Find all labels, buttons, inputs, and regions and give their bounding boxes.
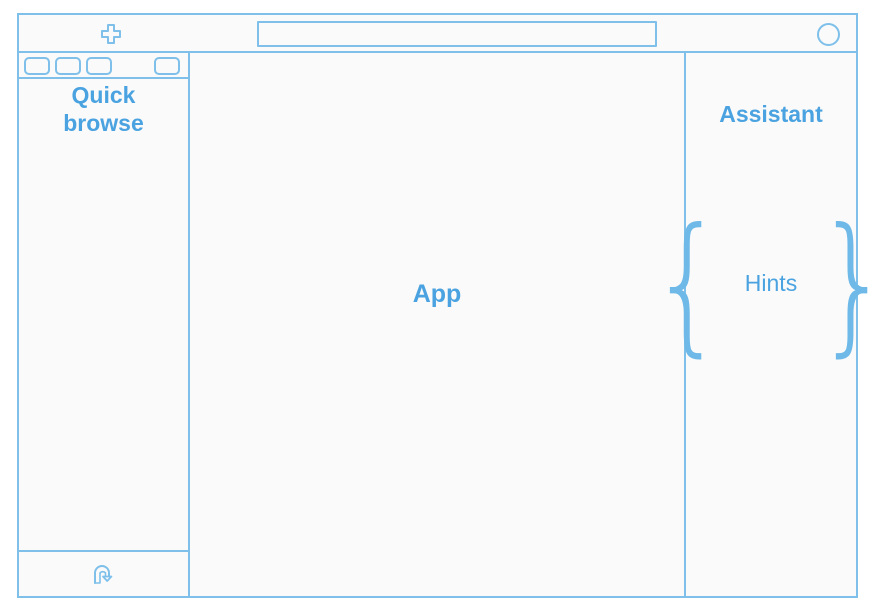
sidebar-toolbar [19,53,188,79]
hints-label: Hints [736,270,806,297]
sidebar-footer [19,550,188,596]
assistant-panel: Assistant { Hints } [684,53,856,596]
sidebar-tool-chip-2[interactable] [55,57,81,75]
window-body: Quick browse App Assistant [19,53,856,596]
sidebar-tool-chip-4[interactable] [154,57,180,75]
hints-group: { Hints } [686,211,856,356]
sidebar-tool-chip-3[interactable] [86,57,112,75]
avatar[interactable] [817,23,840,46]
app-label: App [413,280,462,309]
top-bar [19,15,856,53]
undo-u-turn-icon [91,562,117,586]
undo-button[interactable] [87,559,121,589]
search-input[interactable] [257,21,657,47]
plus-icon [100,23,122,45]
assistant-title: Assistant [686,101,856,128]
wireframe-window: Quick browse App Assistant [17,13,858,598]
sidebar-tool-chip-1[interactable] [24,57,50,75]
app-canvas[interactable]: App [190,53,684,596]
sidebar-title: Quick browse [19,81,188,137]
sidebar-panel: Quick browse [19,53,190,596]
add-button[interactable] [97,21,125,47]
